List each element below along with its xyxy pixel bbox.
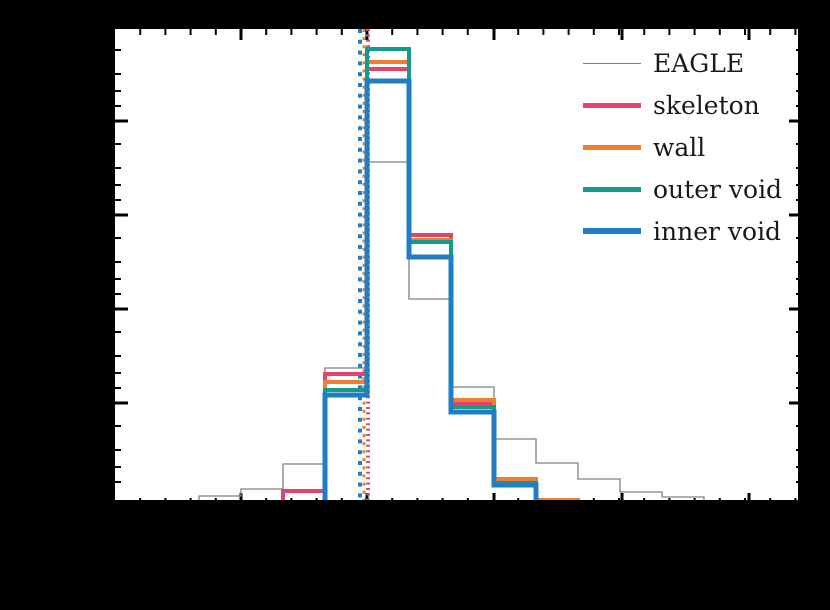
legend-swatch-eagle: [583, 63, 641, 64]
legend-item-skeleton: skeleton: [583, 84, 793, 126]
figure-root: EAGLE skeleton wall outer void inner voi…: [0, 0, 830, 610]
legend-label-inner-void: inner void: [653, 219, 781, 244]
legend-label-wall: wall: [653, 135, 705, 160]
legend-swatch-inner-void: [583, 228, 641, 234]
legend-item-inner-void: inner void: [583, 210, 793, 252]
legend-swatch-outer-void: [583, 187, 641, 192]
chart-legend: EAGLE skeleton wall outer void inner voi…: [583, 42, 793, 252]
legend-item-wall: wall: [583, 126, 793, 168]
legend-item-eagle: EAGLE: [583, 42, 793, 84]
legend-swatch-skeleton: [583, 103, 641, 108]
legend-swatch-wall: [583, 145, 641, 150]
legend-item-outer-void: outer void: [583, 168, 793, 210]
legend-label-eagle: EAGLE: [653, 51, 744, 76]
legend-label-skeleton: skeleton: [653, 93, 760, 118]
legend-label-outer-void: outer void: [653, 177, 782, 202]
